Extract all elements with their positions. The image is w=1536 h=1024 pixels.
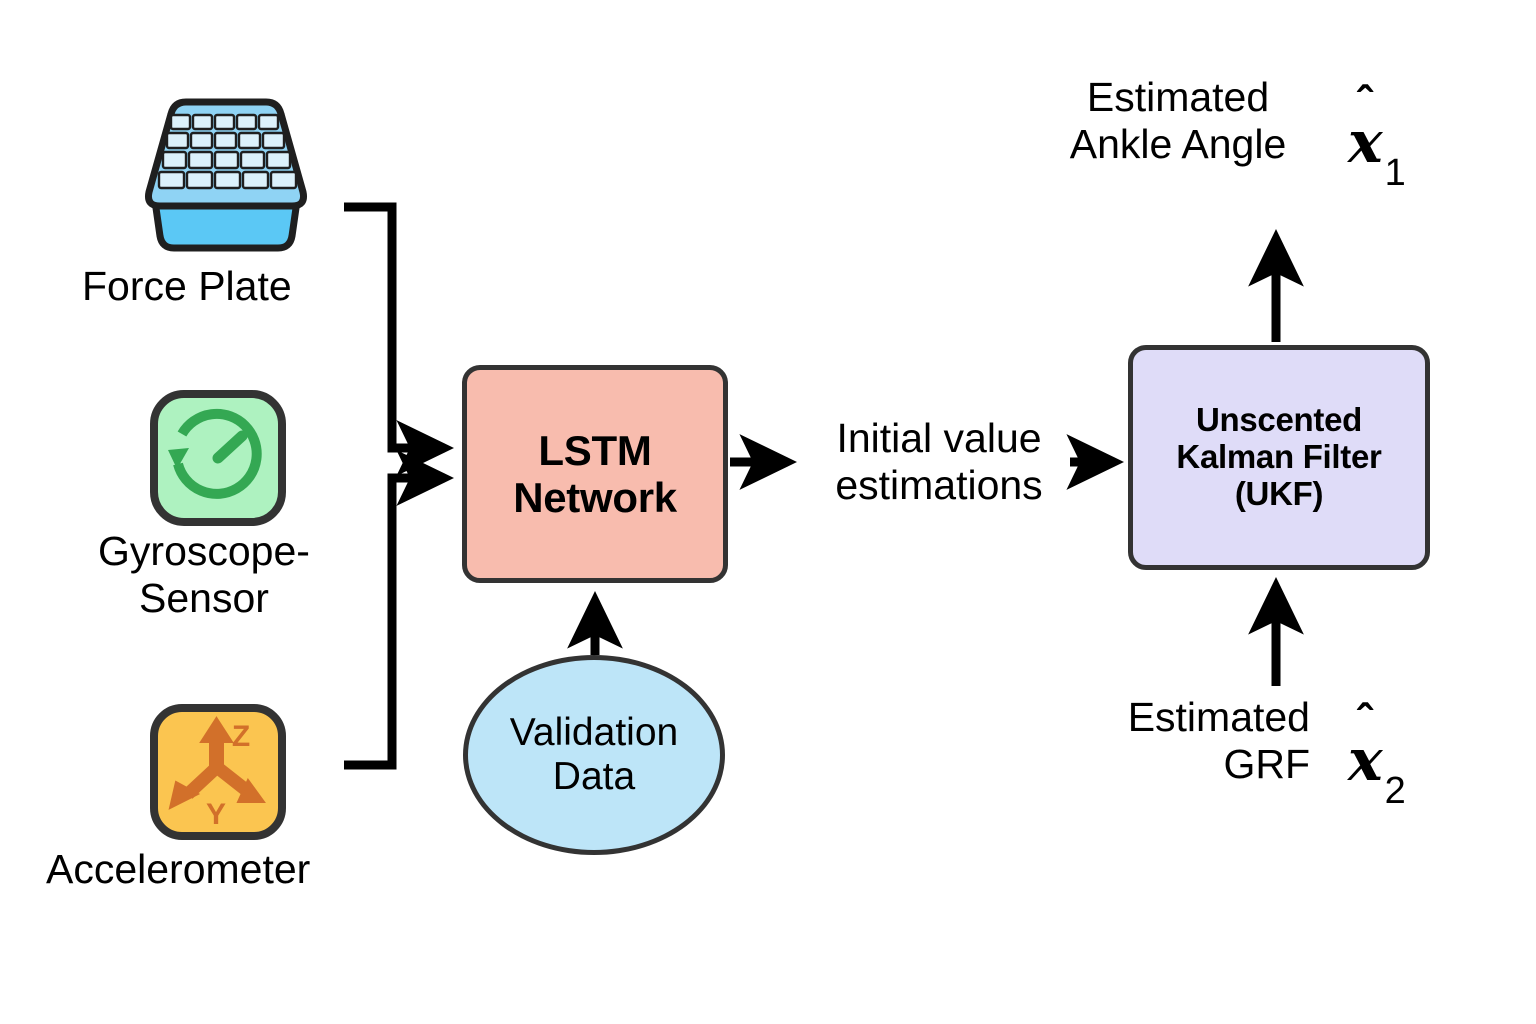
gyroscope-label: Gyroscope- Sensor — [88, 528, 320, 622]
lstm-network-node[interactable]: LSTM Network — [462, 365, 728, 583]
unscented-kalman-filter-label: Unscented Kalman Filter (UKF) — [1176, 402, 1381, 513]
validation-data-label: Validation Data — [510, 711, 678, 798]
unscented-kalman-filter-node[interactable]: Unscented Kalman Filter (UKF) — [1128, 345, 1430, 570]
hat-accent-x1: ˆ — [1357, 76, 1372, 130]
gyroscope-icon — [148, 388, 288, 528]
estimated-ankle-angle-symbol: ˆ x 1 — [1348, 108, 1404, 185]
hat-accent-x2: ˆ — [1357, 694, 1372, 748]
connector-force-plate-to-lstm — [344, 207, 445, 448]
symbol-subscript-x2: 2 — [1385, 770, 1406, 812]
symbol-subscript-x1: 1 — [1385, 152, 1406, 194]
connector-accelerometer-to-lstm — [344, 478, 445, 765]
diagram-canvas: Z Y Force Plate Gyroscope- Sensor Accele… — [0, 0, 1536, 1024]
accelerometer-axis-label-y: Y — [206, 798, 226, 831]
accelerometer-icon: Z Y — [148, 702, 288, 842]
validation-data-node[interactable]: Validation Data — [463, 655, 725, 855]
initial-value-estimations-label: Initial value estimations — [808, 415, 1070, 509]
force-plate-label: Force Plate — [82, 263, 292, 310]
accelerometer-axis-label-z: Z — [232, 720, 250, 753]
force-plate-icon — [140, 88, 312, 256]
lstm-network-label: LSTM Network — [513, 427, 677, 521]
estimated-grf-symbol: ˆ x 2 — [1348, 726, 1404, 803]
estimated-ankle-angle-label: Estimated Ankle Angle — [1036, 74, 1320, 168]
accelerometer-label: Accelerometer — [46, 846, 310, 893]
estimated-grf-label: Estimated GRF — [1084, 694, 1310, 788]
